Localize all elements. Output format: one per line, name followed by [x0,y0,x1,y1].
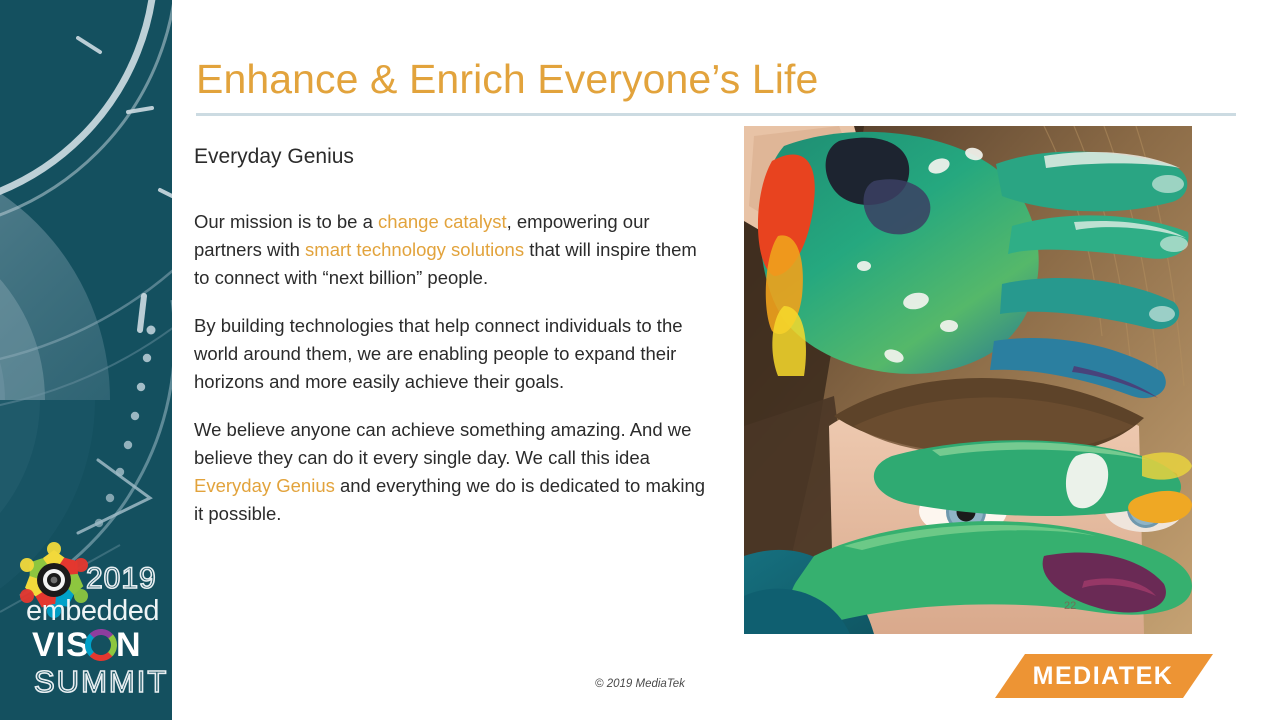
p1-segment-1: Our mission is to be a [194,211,378,232]
body-content: Our mission is to be a change catalyst, … [194,208,714,548]
title-divider [196,113,1236,116]
page-title: Enhance & Enrich Everyone’s Life [196,56,818,103]
hero-photo [744,126,1192,634]
slide-number: 22 [1064,600,1076,612]
paragraph-2: By building technologies that help conne… [194,312,714,396]
p1-highlight-change-catalyst: change catalyst [378,211,507,232]
p3-segment-1: We believe anyone can achieve something … [194,419,691,468]
mediatek-wordmark: MEDIATEK [1033,662,1174,690]
evs-year: 2019 [86,562,157,595]
subheading: Everyday Genius [194,145,354,169]
sidebar-decorative-panel: 2019 embedded VIS N SUMMIT [0,0,172,720]
paragraph-3: We believe anyone can achieve something … [194,416,714,528]
svg-text:N: N [116,626,142,664]
embedded-vision-summit-logo: 2019 embedded VIS N SUMMIT [8,540,172,720]
mediatek-logo: MEDIATEK [993,650,1213,702]
p1-highlight-smart-technology-solutions: smart technology solutions [305,239,524,260]
p3-highlight-everyday-genius: Everyday Genius [194,475,335,496]
slide-canvas: 2019 embedded VIS N SUMMIT Enhance & Enr… [0,0,1280,720]
evs-vision: VIS [32,626,90,664]
evs-logo-graphic: 2019 embedded VIS N SUMMIT [8,540,172,720]
child-with-painted-hand-illustration [744,126,1192,634]
evs-embedded: embedded [26,595,159,627]
mediatek-logo-graphic: MEDIATEK [993,650,1213,702]
paragraph-1: Our mission is to be a change catalyst, … [194,208,714,292]
